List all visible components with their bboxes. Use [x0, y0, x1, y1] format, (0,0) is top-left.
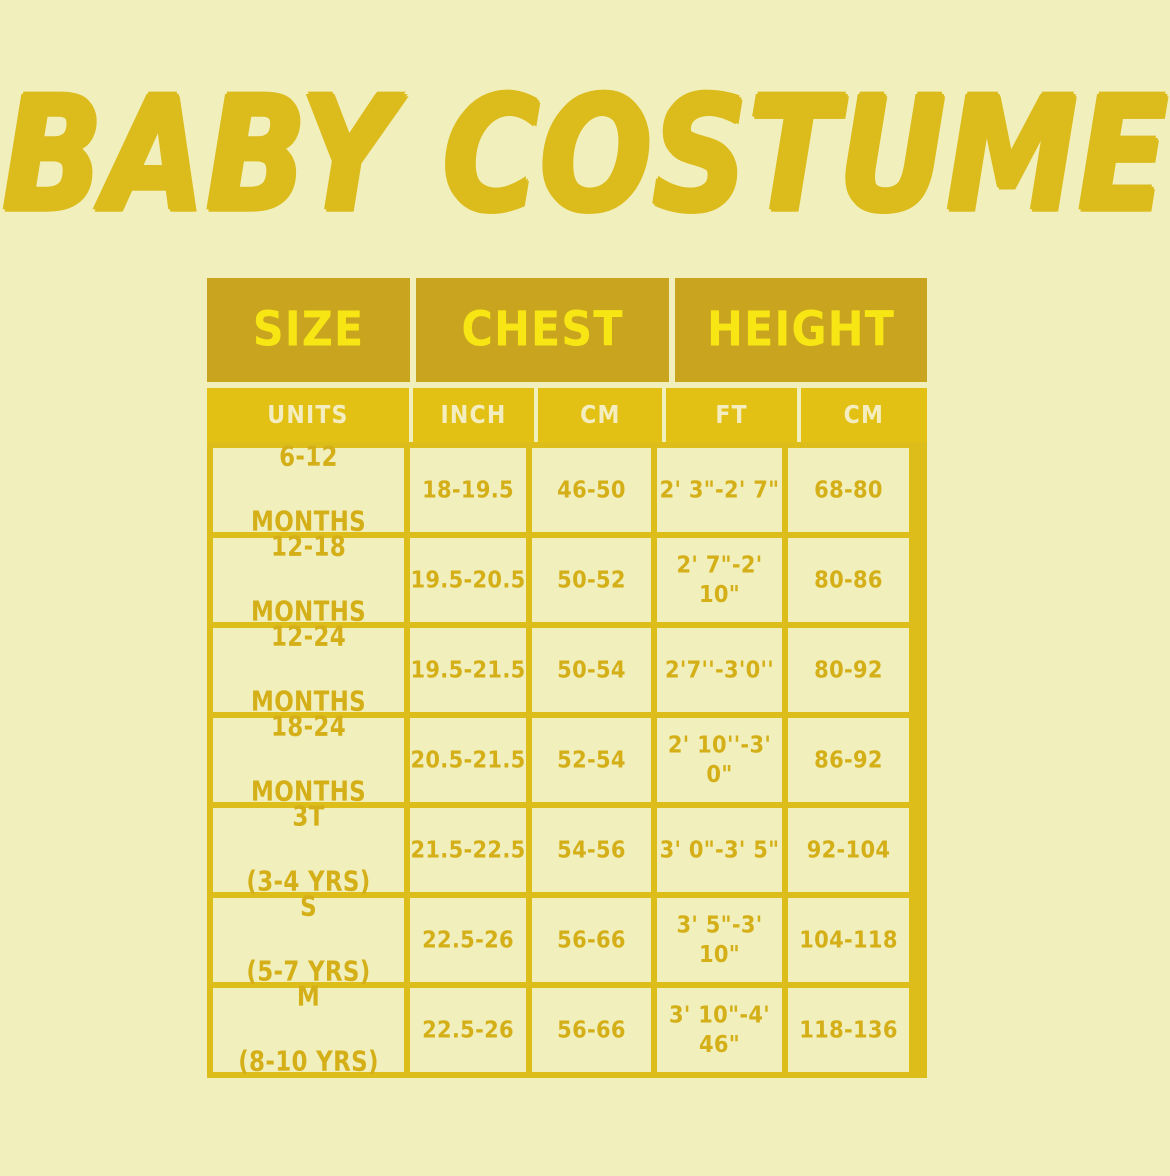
- cell-chest-inch: 22.5-26: [410, 988, 526, 1072]
- group-header-chest-label: CHEST: [461, 302, 623, 358]
- cell-size-line1: S: [246, 890, 370, 926]
- cell-size: 12-24MONTHS: [213, 628, 404, 712]
- cell-size-line1: M: [238, 980, 379, 1016]
- group-header-height-label: HEIGHT: [707, 302, 895, 358]
- table-row: 18-24MONTHS 20.5-21.5 52-54 2' 10''-3' 0…: [213, 718, 921, 802]
- group-header-size: SIZE: [207, 278, 410, 382]
- table-row: 3T(3-4 YRS) 21.5-22.5 54-56 3' 0"-3' 5" …: [213, 808, 921, 892]
- cell-chest-inch: 20.5-21.5: [410, 718, 526, 802]
- cell-height-cm: 104-118: [788, 898, 909, 982]
- poster-title-container: BABY COSTUME: [0, 62, 1170, 247]
- cell-size: M(8-10 YRS): [213, 988, 404, 1072]
- sub-header-units-label: UNITS: [267, 401, 348, 429]
- cell-chest-cm: 50-52: [532, 538, 651, 622]
- table-row: 6-12MONTHS 18-19.5 46-50 2' 3"-2' 7" 68-…: [213, 448, 921, 532]
- cell-size: 6-12MONTHS: [213, 448, 404, 532]
- sub-header-height-ft: FT: [666, 388, 796, 442]
- table-row: 12-18MONTHS 19.5-20.5 50-52 2' 7"-2' 10"…: [213, 538, 921, 622]
- sub-header-height-cm: CM: [801, 388, 927, 442]
- cell-chest-inch: 22.5-26: [410, 898, 526, 982]
- sub-header-chest-inch-label: INCH: [441, 401, 507, 429]
- cell-chest-cm: 54-56: [532, 808, 651, 892]
- cell-size: S(5-7 YRS): [213, 898, 404, 982]
- cell-chest-cm: 50-54: [532, 628, 651, 712]
- cell-chest-inch: 21.5-22.5: [410, 808, 526, 892]
- group-header-height: HEIGHT: [675, 278, 927, 382]
- sub-header-height-cm-label: CM: [844, 401, 884, 429]
- cell-size-line1: 12-24: [251, 620, 366, 656]
- cell-height-cm: 68-80: [788, 448, 909, 532]
- cell-height-cm: 86-92: [788, 718, 909, 802]
- cell-height-ft: 2' 3"-2' 7": [657, 448, 782, 532]
- cell-height-cm: 80-92: [788, 628, 909, 712]
- cell-chest-cm: 56-66: [532, 988, 651, 1072]
- cell-size-line1: 12-18: [251, 530, 366, 566]
- cell-height-ft: 2'7''-3'0'': [657, 628, 782, 712]
- group-header-chest: CHEST: [416, 278, 669, 382]
- table-sub-header-row: UNITS INCH CM FT CM: [207, 388, 927, 442]
- table-body: 6-12MONTHS 18-19.5 46-50 2' 3"-2' 7" 68-…: [207, 442, 927, 1078]
- cell-chest-cm: 56-66: [532, 898, 651, 982]
- cell-size-line1: 6-12: [251, 440, 366, 476]
- table-row: S(5-7 YRS) 22.5-26 56-66 3' 5"-3' 10" 10…: [213, 898, 921, 982]
- cell-size-line1: 18-24: [251, 710, 366, 746]
- page-title: BABY COSTUME: [2, 75, 1168, 233]
- cell-size: 12-18MONTHS: [213, 538, 404, 622]
- cell-height-ft: 3' 10"-4' 46": [657, 988, 782, 1072]
- cell-size: 3T(3-4 YRS): [213, 808, 404, 892]
- cell-height-ft: 3' 5"-3' 10": [657, 898, 782, 982]
- cell-chest-inch: 18-19.5: [410, 448, 526, 532]
- cell-height-ft: 2' 10''-3' 0": [657, 718, 782, 802]
- cell-height-cm: 80-86: [788, 538, 909, 622]
- sub-header-chest-cm: CM: [538, 388, 662, 442]
- table-group-header-row: SIZE CHEST HEIGHT: [207, 278, 927, 382]
- table-row: 12-24MONTHS 19.5-21.5 50-54 2'7''-3'0'' …: [213, 628, 921, 712]
- sub-header-chest-cm-label: CM: [580, 401, 620, 429]
- size-chart-table: SIZE CHEST HEIGHT UNITS INCH CM FT: [207, 278, 927, 1078]
- size-chart-poster: BABY COSTUME SIZE CHEST HEIGHT UNITS INC…: [0, 0, 1170, 1176]
- table-row: M(8-10 YRS) 22.5-26 56-66 3' 10"-4' 46" …: [213, 988, 921, 1072]
- sub-header-height-ft-label: FT: [715, 401, 747, 429]
- sub-header-chest-inch: INCH: [413, 388, 534, 442]
- cell-chest-cm: 46-50: [532, 448, 651, 532]
- sub-header-units: UNITS: [207, 388, 409, 442]
- cell-height-cm: 118-136: [788, 988, 909, 1072]
- cell-chest-inch: 19.5-21.5: [410, 628, 526, 712]
- cell-chest-cm: 52-54: [532, 718, 651, 802]
- cell-size: 18-24MONTHS: [213, 718, 404, 802]
- group-header-size-label: SIZE: [253, 302, 365, 358]
- cell-chest-inch: 19.5-20.5: [410, 538, 526, 622]
- cell-size-line1: 3T: [246, 800, 370, 836]
- cell-height-ft: 2' 7"-2' 10": [657, 538, 782, 622]
- cell-size-line2: (8-10 YRS): [238, 1045, 379, 1081]
- cell-height-ft: 3' 0"-3' 5": [657, 808, 782, 892]
- cell-height-cm: 92-104: [788, 808, 909, 892]
